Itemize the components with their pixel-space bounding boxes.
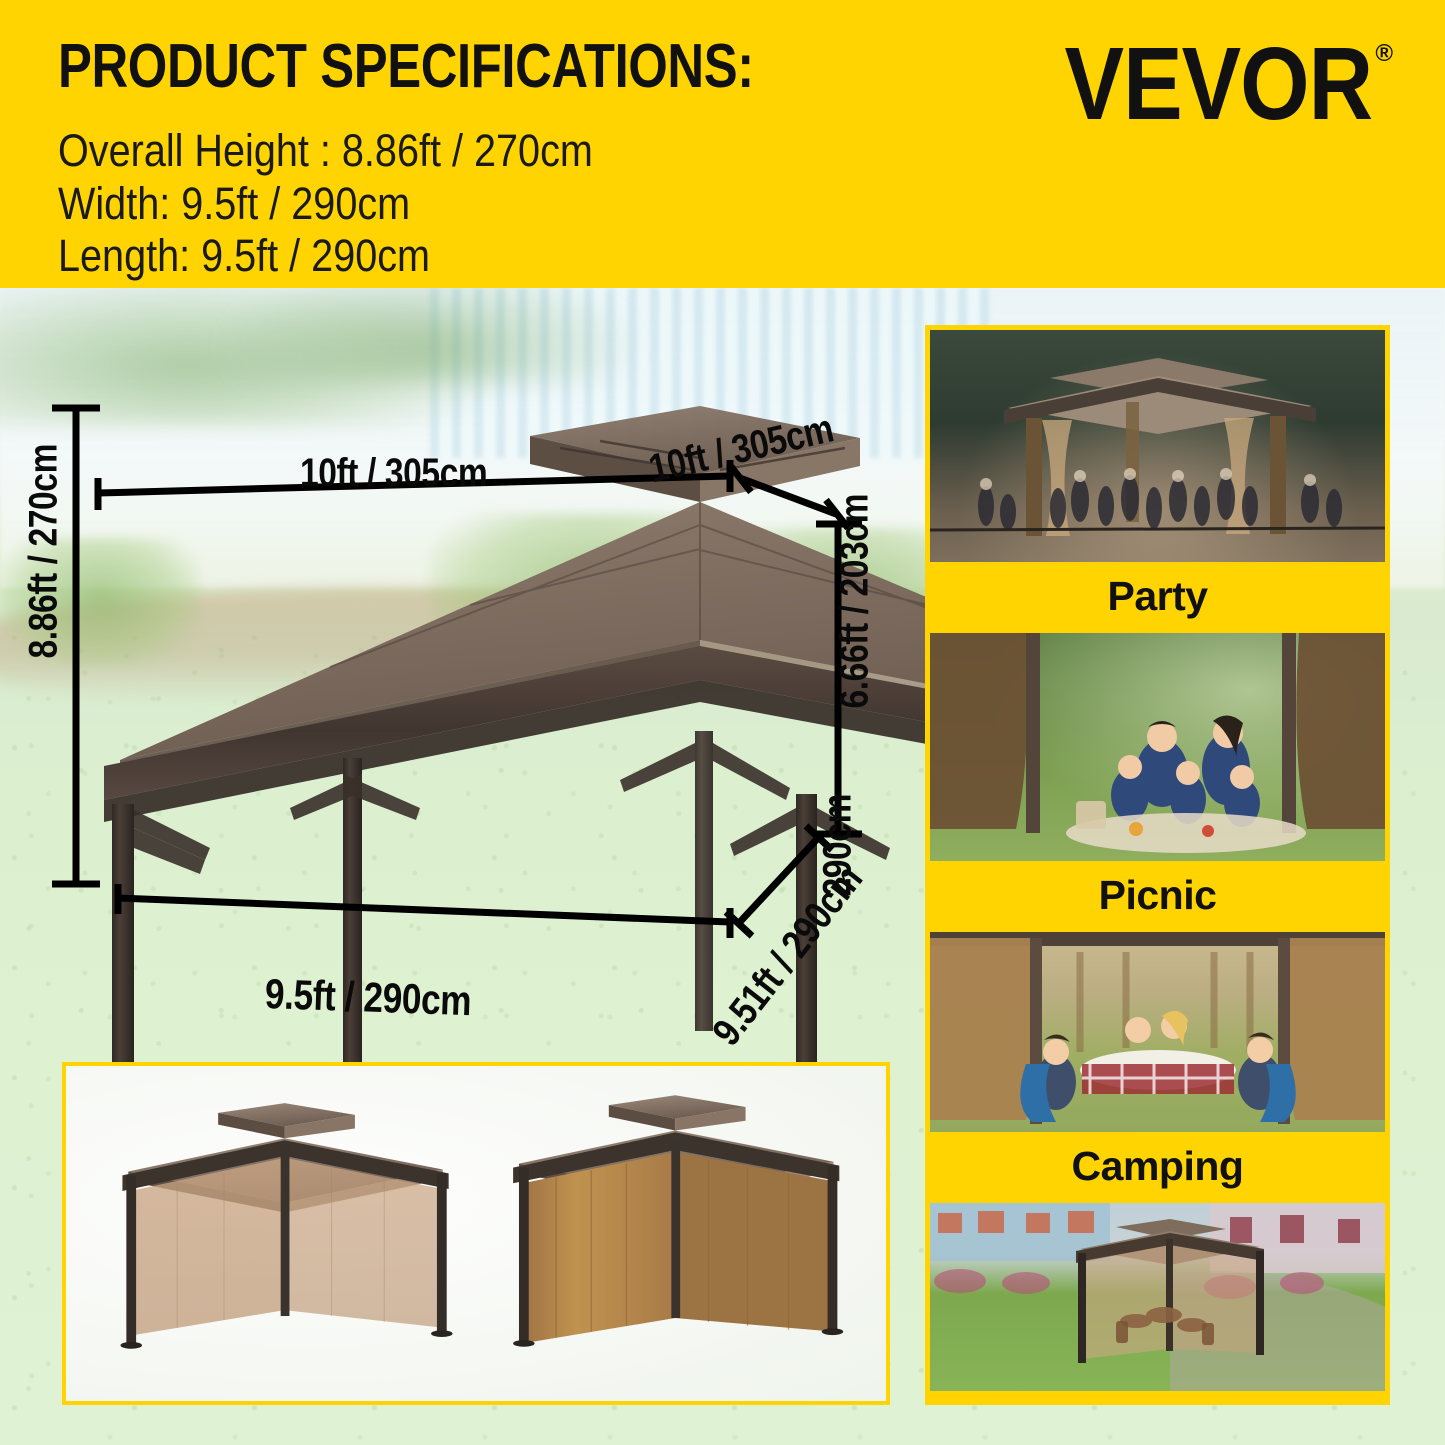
brand-logo: VEVOR ® [1055, 36, 1393, 123]
use-case-caption-party: Party [930, 562, 1385, 633]
spec-list: Overall Height : 8.86ft / 270cm Width: 9… [58, 125, 593, 283]
use-case-small-business: Small Business [930, 1203, 1385, 1405]
dimension-label-overall-height: 8.86ft / 270cm [22, 444, 67, 659]
registered-trademark-icon: ® [1375, 40, 1393, 68]
main-diagram-scene: 8.86ft / 270cm 10ft / 305cm 10ft / 305cm… [0, 288, 1445, 1445]
dimension-label-base-width: 9.5ft / 290cm [264, 970, 472, 1025]
use-case-party: Party [930, 330, 1385, 633]
dimension-label-base-depth-cm: 290cm [816, 794, 861, 897]
use-case-photo-party [930, 330, 1385, 562]
product-showcase-illustration [66, 1066, 886, 1401]
use-case-photo-small-business [930, 1203, 1385, 1391]
dimension-label-roof-depth: 10ft / 305cm [645, 406, 838, 492]
header-banner: PRODUCT SPECIFICATIONS: Overall Height :… [0, 0, 1445, 288]
dimension-label-post-height: 6.66ft / 203cm [833, 494, 878, 709]
use-case-camping: Camping [930, 932, 1385, 1203]
use-case-picnic: Picnic [930, 633, 1385, 932]
use-case-photo-picnic [930, 633, 1385, 861]
dimension-label-roof-width: 10ft / 305cm [300, 451, 487, 496]
product-spec-infographic: PRODUCT SPECIFICATIONS: Overall Height :… [0, 0, 1445, 1445]
spec-length: Length: 9.5ft / 290cm [58, 230, 593, 283]
use-case-panel: Party [925, 325, 1390, 1405]
brand-logo-text: VEVOR [1065, 36, 1373, 134]
product-showcase-panel [62, 1062, 890, 1405]
use-case-caption-small-business: Small Business [930, 1391, 1385, 1405]
use-case-photo-camping [930, 932, 1385, 1132]
use-case-caption-camping: Camping [930, 1132, 1385, 1203]
page-title: PRODUCT SPECIFICATIONS: [58, 36, 754, 98]
spec-width: Width: 9.5ft / 290cm [58, 178, 593, 231]
spec-overall-height: Overall Height : 8.86ft / 270cm [58, 125, 593, 178]
use-case-caption-picnic: Picnic [930, 861, 1385, 932]
